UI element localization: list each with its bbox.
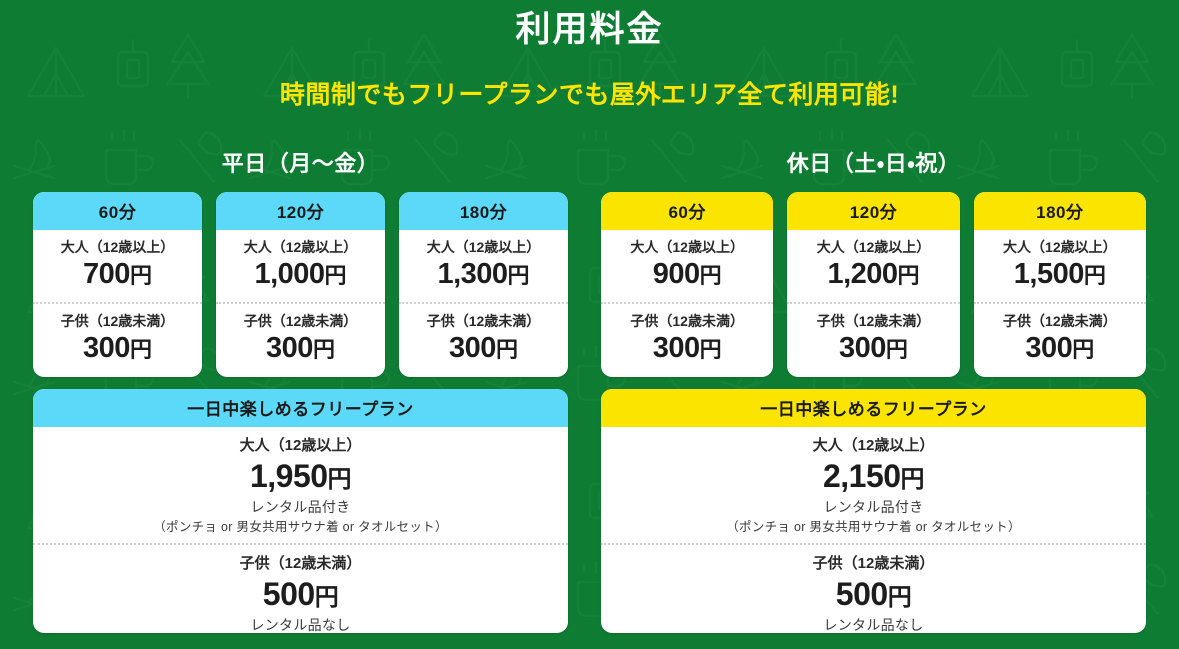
child-price-unit: 円 <box>886 337 908 362</box>
card-segment-child: 子供（12歳未満） 300円 <box>787 302 959 376</box>
adult-price-value: 1,950 <box>250 458 328 494</box>
adult-label: 大人（12歳以上） <box>39 238 196 257</box>
adult-label: 大人（12歳以上） <box>222 238 379 257</box>
child-label: 子供（12歳未満） <box>607 312 767 331</box>
card-header-duration: 60分 <box>601 192 773 230</box>
child-price: 300円 <box>793 331 953 366</box>
adult-rental-note: レンタル品付き <box>609 497 1138 518</box>
card-header-duration: 120分 <box>216 192 385 230</box>
adult-label: 大人（12歳以上） <box>980 238 1140 257</box>
adult-price-value: 1,000 <box>254 258 324 290</box>
card-segment-adult: 大人（12歳以上） 1,300円 <box>399 230 568 302</box>
child-price: 300円 <box>607 331 767 366</box>
free-plan-segment-child: 子供（12歳未満） 500円 レンタル品なし <box>33 543 568 633</box>
child-price-unit: 円 <box>315 584 339 611</box>
child-price: 300円 <box>222 331 379 366</box>
child-rental-note: レンタル品なし <box>609 615 1138 633</box>
child-label: 子供（12歳未満） <box>980 312 1140 331</box>
child-label: 子供（12歳未満） <box>793 312 953 331</box>
adult-label: 大人（12歳以上） <box>41 436 560 456</box>
price-card-holiday-60[interactable]: 60分 大人（12歳以上） 900円 子供（12歳未満） 300円 <box>601 192 773 377</box>
adult-price: 1,300円 <box>405 257 562 292</box>
free-plan-segment-adult: 大人（12歳以上） 1,950円 レンタル品付き （ポンチョ or 男女共用サウ… <box>33 427 568 543</box>
child-price: 500円 <box>609 574 1138 615</box>
child-price-unit: 円 <box>700 337 722 362</box>
child-price-value: 300 <box>839 332 886 364</box>
free-plan-header: 一日中楽しめるフリープラン <box>33 389 568 427</box>
duration-cards-holiday: 60分 大人（12歳以上） 900円 子供（12歳未満） 300円 120分 大… <box>601 192 1146 377</box>
card-header-duration: 120分 <box>787 192 959 230</box>
adult-price-value: 700 <box>83 258 130 290</box>
card-segment-adult: 大人（12歳以上） 1,200円 <box>787 230 959 302</box>
page-title: 利用料金 <box>0 9 1179 51</box>
adult-price: 1,200円 <box>793 257 953 292</box>
adult-label: 大人（12歳以上） <box>607 238 767 257</box>
adult-price: 2,150円 <box>609 456 1138 497</box>
adult-price-unit: 円 <box>130 263 152 288</box>
child-price-value: 300 <box>653 332 700 364</box>
child-price-unit: 円 <box>313 337 335 362</box>
group-label-weekday: 平日（月〜金） <box>33 146 568 178</box>
duration-cards-weekday: 60分 大人（12歳以上） 700円 子供（12歳未満） 300円 120分 大… <box>33 192 568 377</box>
adult-price: 900円 <box>607 257 767 292</box>
adult-price-unit: 円 <box>1084 263 1106 288</box>
child-label: 子供（12歳未満） <box>222 312 379 331</box>
child-price-value: 500 <box>263 576 315 612</box>
card-header-duration: 180分 <box>399 192 568 230</box>
child-label: 子供（12歳未満） <box>39 312 196 331</box>
card-segment-adult: 大人（12歳以上） 1,500円 <box>974 230 1146 302</box>
adult-rental-note: レンタル品付き <box>41 497 560 518</box>
adult-label: 大人（12歳以上） <box>609 436 1138 456</box>
card-segment-child: 子供（12歳未満） 300円 <box>33 302 202 376</box>
card-segment-child: 子供（12歳未満） 300円 <box>216 302 385 376</box>
child-price-unit: 円 <box>496 337 518 362</box>
price-card-holiday-120[interactable]: 120分 大人（12歳以上） 1,200円 子供（12歳未満） 300円 <box>787 192 959 377</box>
free-plan-segment-adult: 大人（12歳以上） 2,150円 レンタル品付き （ポンチョ or 男女共用サウ… <box>601 427 1146 543</box>
child-price-value: 300 <box>1025 332 1072 364</box>
adult-price-value: 1,200 <box>827 258 897 290</box>
child-price: 300円 <box>405 331 562 366</box>
price-card-weekday-180[interactable]: 180分 大人（12歳以上） 1,300円 子供（12歳未満） 300円 <box>399 192 568 377</box>
child-price-unit: 円 <box>1072 337 1094 362</box>
adult-price-unit: 円 <box>508 263 530 288</box>
adult-label: 大人（12歳以上） <box>405 238 562 257</box>
card-segment-adult: 大人（12歳以上） 700円 <box>33 230 202 302</box>
child-label: 子供（12歳未満） <box>41 554 560 574</box>
card-header-duration: 60分 <box>33 192 202 230</box>
price-card-weekday-120[interactable]: 120分 大人（12歳以上） 1,000円 子供（12歳未満） 300円 <box>216 192 385 377</box>
child-price: 500円 <box>41 574 560 615</box>
adult-price: 1,000円 <box>222 257 379 292</box>
adult-price: 1,500円 <box>980 257 1140 292</box>
child-label: 子供（12歳未満） <box>405 312 562 331</box>
adult-price-unit: 円 <box>325 263 347 288</box>
free-plan-segment-child: 子供（12歳未満） 500円 レンタル品なし <box>601 543 1146 633</box>
child-price: 300円 <box>980 331 1140 366</box>
child-price-value: 300 <box>449 332 496 364</box>
adult-price: 1,950円 <box>41 456 560 497</box>
adult-price-value: 900 <box>653 258 700 290</box>
adult-price-unit: 円 <box>898 263 920 288</box>
child-price: 300円 <box>39 331 196 366</box>
card-segment-child: 子供（12歳未満） 300円 <box>601 302 773 376</box>
adult-rental-note-detail: （ポンチョ or 男女共用サウナ着 or タオルセット） <box>609 518 1138 537</box>
card-segment-child: 子供（12歳未満） 300円 <box>974 302 1146 376</box>
adult-price-value: 1,300 <box>437 258 507 290</box>
adult-price-value: 1,500 <box>1014 258 1084 290</box>
child-price-value: 500 <box>836 576 888 612</box>
adult-price-value: 2,150 <box>823 458 901 494</box>
card-segment-adult: 大人（12歳以上） 900円 <box>601 230 773 302</box>
adult-price-unit: 円 <box>901 466 925 493</box>
card-header-duration: 180分 <box>974 192 1146 230</box>
child-price-unit: 円 <box>130 337 152 362</box>
child-price-value: 300 <box>83 332 130 364</box>
adult-price-unit: 円 <box>700 263 722 288</box>
adult-rental-note-detail: （ポンチョ or 男女共用サウナ着 or タオルセット） <box>41 518 560 537</box>
page-subtitle: 時間制でもフリープランでも屋外エリア全て利用可能! <box>0 80 1179 110</box>
free-plan-card-weekday[interactable]: 一日中楽しめるフリープラン 大人（12歳以上） 1,950円 レンタル品付き （… <box>33 389 568 633</box>
card-segment-child: 子供（12歳未満） 300円 <box>399 302 568 376</box>
group-label-holiday: 休日（土・日・祝） <box>601 146 1146 178</box>
free-plan-header: 一日中楽しめるフリープラン <box>601 389 1146 427</box>
child-rental-note: レンタル品なし <box>41 615 560 633</box>
adult-label: 大人（12歳以上） <box>793 238 953 257</box>
price-card-holiday-180[interactable]: 180分 大人（12歳以上） 1,500円 子供（12歳未満） 300円 <box>974 192 1146 377</box>
child-label: 子供（12歳未満） <box>609 554 1138 574</box>
adult-price: 700円 <box>39 257 196 292</box>
adult-price-unit: 円 <box>328 466 352 493</box>
card-segment-adult: 大人（12歳以上） 1,000円 <box>216 230 385 302</box>
price-card-weekday-60[interactable]: 60分 大人（12歳以上） 700円 子供（12歳未満） 300円 <box>33 192 202 377</box>
free-plan-card-holiday[interactable]: 一日中楽しめるフリープラン 大人（12歳以上） 2,150円 レンタル品付き （… <box>601 389 1146 633</box>
child-price-value: 300 <box>266 332 313 364</box>
child-price-unit: 円 <box>888 584 912 611</box>
pricing-page: 利用料金 時間制でもフリープランでも屋外エリア全て利用可能! 平日（月〜金） 6… <box>0 0 1179 649</box>
